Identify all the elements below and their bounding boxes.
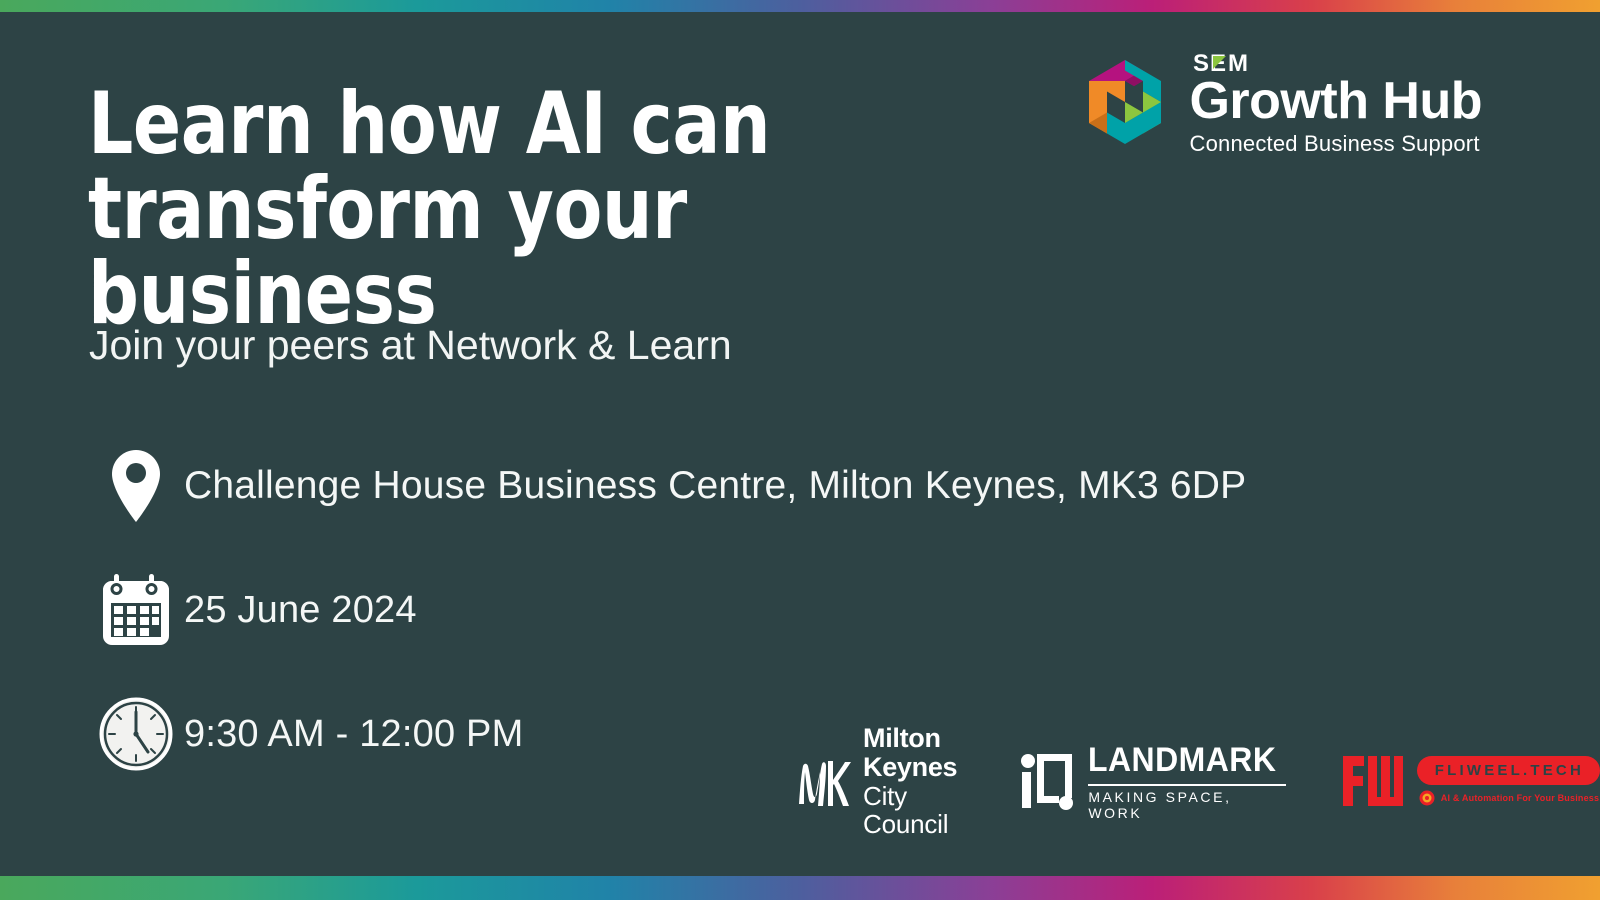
partner-milton-keynes-city-council: Milton Keynes City Council [795,724,966,838]
partner-logos: Milton Keynes City Council L [795,724,1600,838]
fliweel-wordmark: FLIWEEL.TECH AI & Automation For Your Bu… [1417,756,1600,806]
growth-hub-title: Growth Hub [1189,74,1482,129]
fliweel-tagline: AI & Automation For Your Business [1441,793,1599,803]
landmark-square-icon [1020,752,1074,810]
event-poster: S E M Growth Hub Connected Business Supp… [0,0,1600,900]
detail-row-location: Challenge House Business Centre, Milton … [88,440,1246,532]
top-gradient-bar [0,0,1600,12]
mk-wordmark: Milton Keynes City Council [863,724,966,838]
partner-fliweel-tech: FLIWEEL.TECH AI & Automation For Your Bu… [1343,754,1600,808]
bottom-gradient-bar [0,876,1600,900]
growth-hub-logo: S E M Growth Hub Connected Business Supp… [1081,50,1482,157]
growth-hub-tagline: Connected Business Support [1189,131,1482,157]
detail-location-text: Challenge House Business Centre, Milton … [184,464,1246,508]
mk-line2: City Council [863,782,966,838]
page-subtitle: Join your peers at Network & Learn [89,322,732,369]
fliweel-badge-icon [1419,790,1435,806]
landmark-name: LANDMARK [1088,741,1276,780]
fliweel-name: FLIWEEL.TECH [1417,756,1600,785]
landmark-divider [1088,784,1286,786]
landmark-wordmark: LANDMARK MAKING SPACE, WORK [1088,741,1288,821]
calendar-icon [88,572,184,648]
detail-row-date: 25 June 2024 [88,564,1246,656]
hexagon-pinwheel-icon [1081,55,1169,151]
partner-landmark: LANDMARK MAKING SPACE, WORK [1020,741,1288,821]
page-title: Learn how AI can transform your business [88,82,990,337]
detail-date-text: 25 June 2024 [184,589,417,632]
growth-hub-wordmark: S E M Growth Hub Connected Business Supp… [1189,50,1482,157]
detail-time-text: 9:30 AM - 12:00 PM [184,713,523,756]
fliweel-tagline-row: AI & Automation For Your Business [1419,790,1599,806]
fw-monogram-icon [1343,754,1409,808]
landmark-tagline: MAKING SPACE, WORK [1088,789,1288,821]
mk-line1: Milton Keynes [863,724,966,782]
clock-icon [88,696,184,772]
mk-brush-monogram-icon [795,754,851,808]
map-pin-icon [88,448,184,524]
